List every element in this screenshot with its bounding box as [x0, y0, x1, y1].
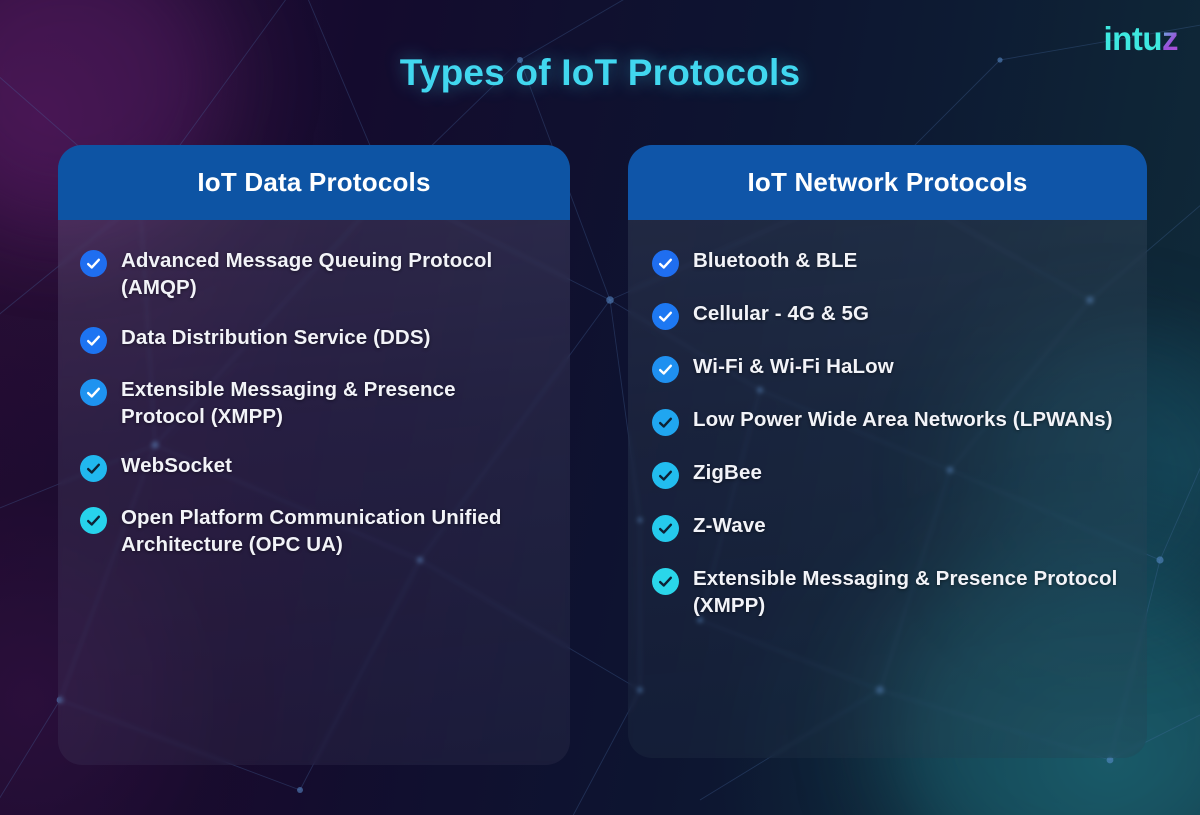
brand-logo[interactable]: intuz	[1104, 20, 1178, 56]
list-item: ZigBee	[652, 459, 1123, 489]
list-item-label: Extensible Messaging & Presence Protocol…	[693, 565, 1123, 620]
list-item-label: Data Distribution Service (DDS)	[121, 324, 431, 351]
card-iot-data-protocols: IoT Data Protocols Advanced Message Queu…	[58, 145, 570, 765]
list-item: Advanced Message Queuing Protocol (AMQP)	[80, 247, 544, 302]
list-item: WebSocket	[80, 452, 544, 482]
list-item: Open Platform Communication Unified Arch…	[80, 504, 544, 559]
list-item: Z-Wave	[652, 512, 1123, 542]
infographic-canvas: intuz Types of IoT Protocols IoT Data Pr…	[0, 0, 1200, 815]
list-item: Extensible Messaging & Presence Protocol…	[80, 376, 544, 431]
check-circle-icon	[652, 462, 679, 489]
check-circle-icon	[80, 455, 107, 482]
list-item: Cellular - 4G & 5G	[652, 300, 1123, 330]
list-item: Low Power Wide Area Networks (LPWANs)	[652, 406, 1123, 436]
card-header-iot-network-protocols: IoT Network Protocols	[628, 145, 1147, 220]
list-item-label: Advanced Message Queuing Protocol (AMQP)	[121, 247, 544, 302]
check-circle-icon	[652, 303, 679, 330]
logo-wordmark: intuz	[1104, 22, 1178, 55]
protocol-list-data: Advanced Message Queuing Protocol (AMQP)…	[80, 247, 544, 559]
list-item-label: Wi-Fi & Wi-Fi HaLow	[693, 353, 894, 380]
list-item: Wi-Fi & Wi-Fi HaLow	[652, 353, 1123, 383]
list-item: Bluetooth & BLE	[652, 247, 1123, 277]
list-item-label: Low Power Wide Area Networks (LPWANs)	[693, 406, 1113, 433]
list-item-label: ZigBee	[693, 459, 762, 486]
card-body-iot-network-protocols: Bluetooth & BLECellular - 4G & 5GWi-Fi &…	[628, 220, 1147, 663]
check-circle-icon	[652, 409, 679, 436]
list-item-label: WebSocket	[121, 452, 232, 479]
protocol-list-network: Bluetooth & BLECellular - 4G & 5GWi-Fi &…	[652, 247, 1123, 620]
list-item: Data Distribution Service (DDS)	[80, 324, 544, 354]
logo-wordmark-head: intu	[1104, 20, 1162, 57]
check-circle-icon	[652, 568, 679, 595]
list-item-label: Open Platform Communication Unified Arch…	[121, 504, 544, 559]
list-item: Extensible Messaging & Presence Protocol…	[652, 565, 1123, 620]
check-circle-icon	[652, 250, 679, 277]
list-item-label: Z-Wave	[693, 512, 766, 539]
check-circle-icon	[652, 515, 679, 542]
check-circle-icon	[80, 250, 107, 277]
check-circle-icon	[80, 379, 107, 406]
check-circle-icon	[80, 507, 107, 534]
check-circle-icon	[80, 327, 107, 354]
logo-wordmark-tail: z	[1162, 20, 1178, 57]
card-iot-network-protocols: IoT Network Protocols Bluetooth & BLECel…	[628, 145, 1147, 758]
list-item-label: Cellular - 4G & 5G	[693, 300, 869, 327]
card-body-iot-data-protocols: Advanced Message Queuing Protocol (AMQP)…	[58, 220, 570, 579]
page-title: Types of IoT Protocols	[0, 52, 1200, 94]
list-item-label: Bluetooth & BLE	[693, 247, 857, 274]
check-circle-icon	[652, 356, 679, 383]
list-item-label: Extensible Messaging & Presence Protocol…	[121, 376, 544, 431]
card-header-iot-data-protocols: IoT Data Protocols	[58, 145, 570, 220]
